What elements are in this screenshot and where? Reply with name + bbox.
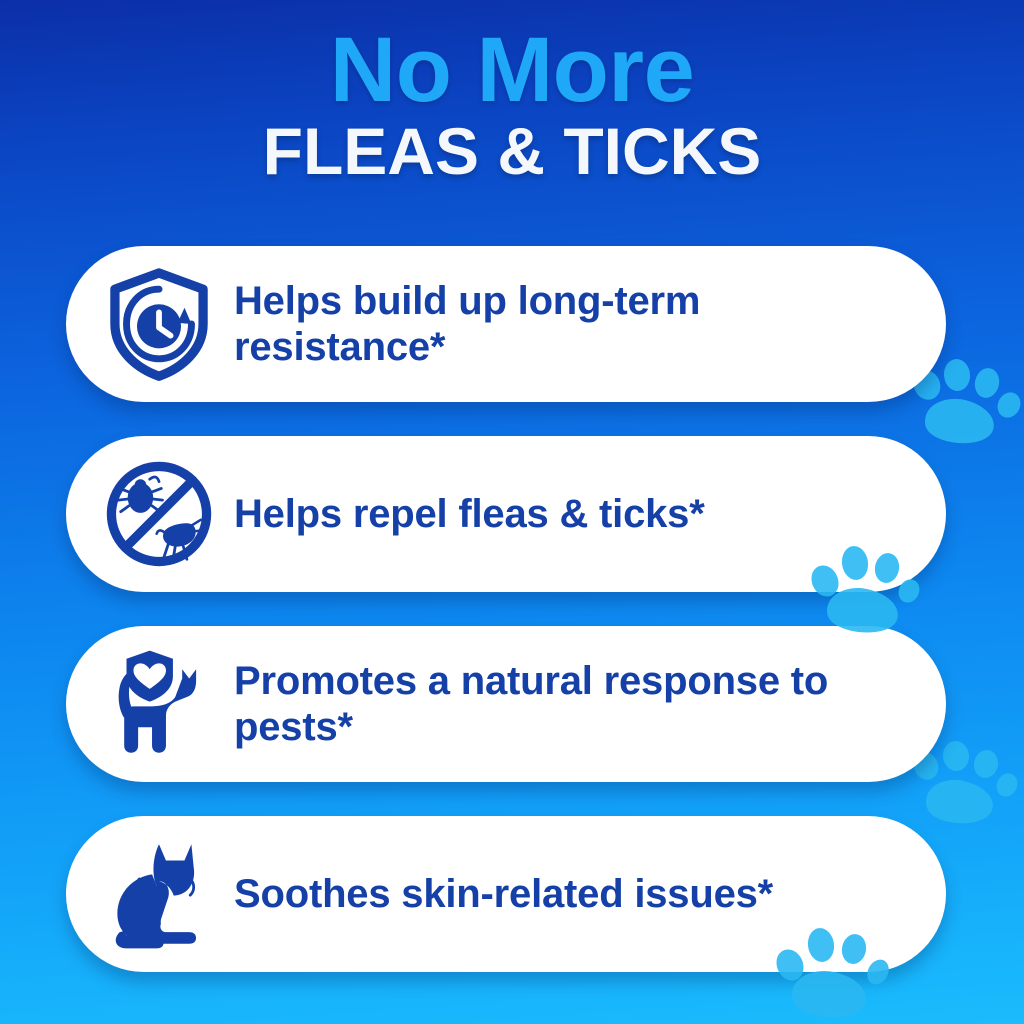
benefit-text: Promotes a natural response to pests* <box>234 658 946 751</box>
benefit-icon-slot <box>84 266 234 382</box>
benefit-icon-slot <box>84 646 234 762</box>
benefit-icon-slot <box>84 835 234 953</box>
cat-scratching-icon <box>101 835 217 953</box>
benefit-card-natural-response[interactable]: Promotes a natural response to pests* <box>66 626 946 782</box>
headline-line-1: No More <box>0 26 1024 114</box>
paw-print-2-icon <box>805 541 925 635</box>
benefit-text: Helps build up long-term resistance* <box>234 278 946 371</box>
benefit-text: Helps repel fleas & ticks* <box>234 491 946 537</box>
no-fleas-ticks-icon <box>101 456 217 572</box>
headline-block: No More FLEAS & TICKS <box>0 26 1024 184</box>
shield-clock-icon <box>101 266 217 382</box>
benefit-text: Soothes skin-related issues* <box>234 871 946 917</box>
cat-shield-heart-icon <box>98 646 220 762</box>
paw-print-4-icon <box>768 922 894 1020</box>
headline-line-2: FLEAS & TICKS <box>0 118 1024 184</box>
promo-poster: No More FLEAS & TICKS <box>0 0 1024 1024</box>
benefit-icon-slot <box>84 456 234 572</box>
benefit-card-resistance[interactable]: Helps build up long-term resistance* <box>66 246 946 402</box>
